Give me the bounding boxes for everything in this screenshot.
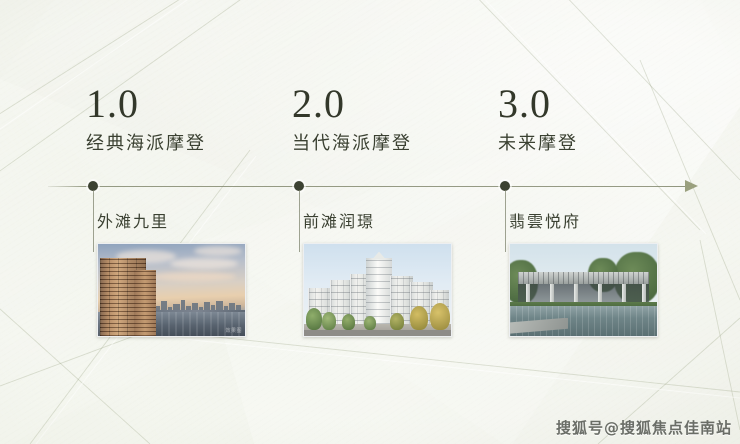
photo-tree [342, 314, 355, 330]
project-photo-3[interactable] [509, 243, 658, 337]
project-name-3: 翡雲悦府 [509, 214, 658, 232]
photo-tree [306, 308, 322, 330]
photo-tree [322, 312, 336, 330]
project-card-1[interactable]: 外滩九里 [97, 214, 246, 337]
photo-building-center-tower [366, 258, 392, 324]
photo-tree-autumn [410, 306, 428, 330]
project-name-2: 前滩润璟 [303, 214, 452, 232]
photo-road [304, 330, 451, 336]
generation-block-1: 1.0 经典海派摩登 [86, 84, 316, 154]
timeline-arrow-icon [685, 180, 698, 192]
timeline-axis-line [48, 186, 690, 187]
slide-canvas: 1.0 经典海派摩登 2.0 当代海派摩登 3.0 未来摩登 外滩九里 [0, 0, 740, 444]
photo-tree [390, 313, 404, 330]
generation-subtitle-3: 未来摩登 [498, 134, 728, 154]
generation-subtitle-2: 当代海派摩登 [292, 134, 522, 154]
generation-number-1: 1.0 [86, 84, 316, 124]
photo-cloud [194, 246, 242, 256]
timeline-node-stem-2 [299, 190, 300, 252]
timeline-node-stem-3 [505, 190, 506, 252]
generation-block-3: 3.0 未来摩登 [498, 84, 728, 154]
generation-subtitle-1: 经典海派摩登 [86, 134, 316, 154]
source-watermark: 搜狐号@搜狐焦点佳南站 [556, 417, 732, 438]
timeline-node-stem-1 [93, 190, 94, 252]
project-card-3[interactable]: 翡雲悦府 [509, 214, 658, 337]
project-card-2[interactable]: 前滩润璟 [303, 214, 452, 337]
photo-residential-tower-secondary [134, 270, 156, 336]
photo-villa-roof [518, 272, 649, 284]
project-photo-2[interactable] [303, 243, 452, 337]
project-photo-1[interactable]: 效果图 [97, 243, 246, 337]
photo-watermark-1: 效果图 [225, 327, 242, 334]
photo-cloud [150, 272, 236, 281]
generation-block-2: 2.0 当代海派摩登 [292, 84, 522, 154]
generation-number-2: 2.0 [292, 84, 522, 124]
photo-tree [364, 316, 376, 330]
generation-number-3: 3.0 [498, 84, 728, 124]
project-name-1: 外滩九里 [97, 214, 246, 232]
photo-tree-autumn [430, 303, 450, 330]
photo-cloud [170, 258, 238, 269]
